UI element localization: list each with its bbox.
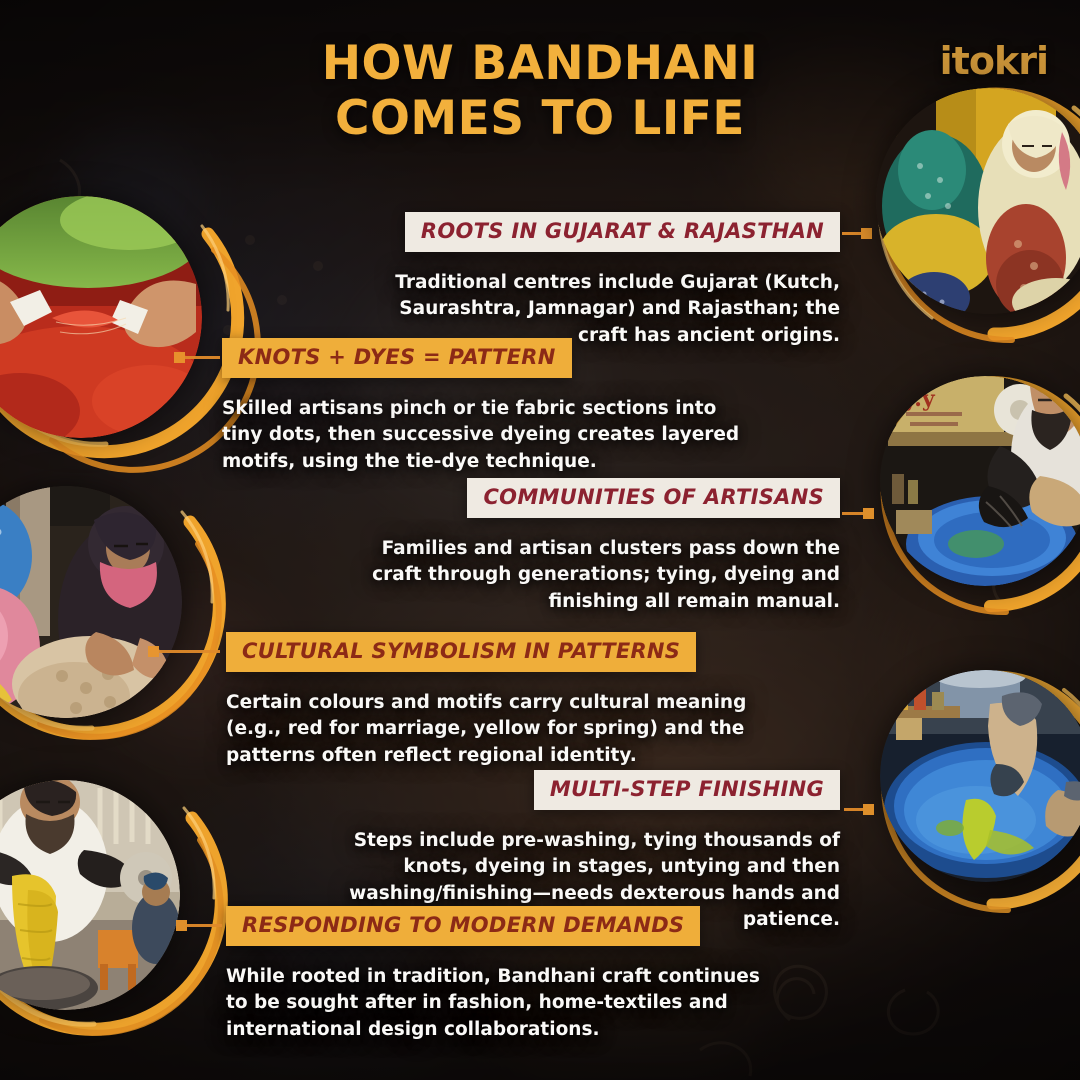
infographic-canvas: HOW BANDHANI COMES TO LIFE itokri — [0, 0, 1080, 1080]
section-label-modern-demands[interactable]: RESPONDING TO MODERN DEMANDS — [226, 906, 700, 946]
section-body-modern-demands: While rooted in tradition, Bandhani craf… — [226, 964, 786, 1043]
connector-finishing — [844, 808, 872, 811]
section-knots-dyes: KNOTS + DYES = PATTERN Skilled artisans … — [222, 338, 742, 475]
section-symbolism: CULTURAL SYMBOLISM IN PATTERNS Certain c… — [226, 632, 766, 769]
section-body-communities: Families and artisan clusters pass down … — [370, 536, 840, 615]
photo-dyer-blue-tub: y.y — [880, 376, 1080, 586]
connector-symbolism — [150, 650, 220, 653]
connector-communities — [842, 512, 872, 515]
section-modern-demands: RESPONDING TO MODERN DEMANDS While roote… — [226, 906, 786, 1043]
section-label-knots-dyes[interactable]: KNOTS + DYES = PATTERN — [222, 338, 572, 378]
photo-indigo-vat — [880, 670, 1080, 882]
connector-roots — [842, 232, 870, 235]
itokri-logo-text: itokri — [926, 38, 1048, 84]
itokri-logo[interactable]: itokri — [926, 38, 1048, 84]
section-body-symbolism: Certain colours and motifs carry cultura… — [226, 690, 766, 769]
section-label-finishing[interactable]: MULTI-STEP FINISHING — [534, 770, 840, 810]
section-label-symbolism[interactable]: CULTURAL SYMBOLISM IN PATTERNS — [226, 632, 696, 672]
section-roots: ROOTS IN GUJARAT & RAJASTHAN Traditional… — [380, 212, 840, 349]
connector-knots-dyes — [176, 356, 220, 359]
section-body-knots-dyes: Skilled artisans pinch or tie fabric sec… — [222, 396, 742, 475]
section-label-roots[interactable]: ROOTS IN GUJARAT & RAJASTHAN — [405, 212, 840, 252]
section-body-roots: Traditional centres include Gujarat (Kut… — [380, 270, 840, 349]
section-communities: COMMUNITIES OF ARTISANS Families and art… — [370, 478, 840, 615]
connector-modern-demands — [178, 924, 222, 927]
section-label-communities[interactable]: COMMUNITIES OF ARTISANS — [467, 478, 840, 518]
